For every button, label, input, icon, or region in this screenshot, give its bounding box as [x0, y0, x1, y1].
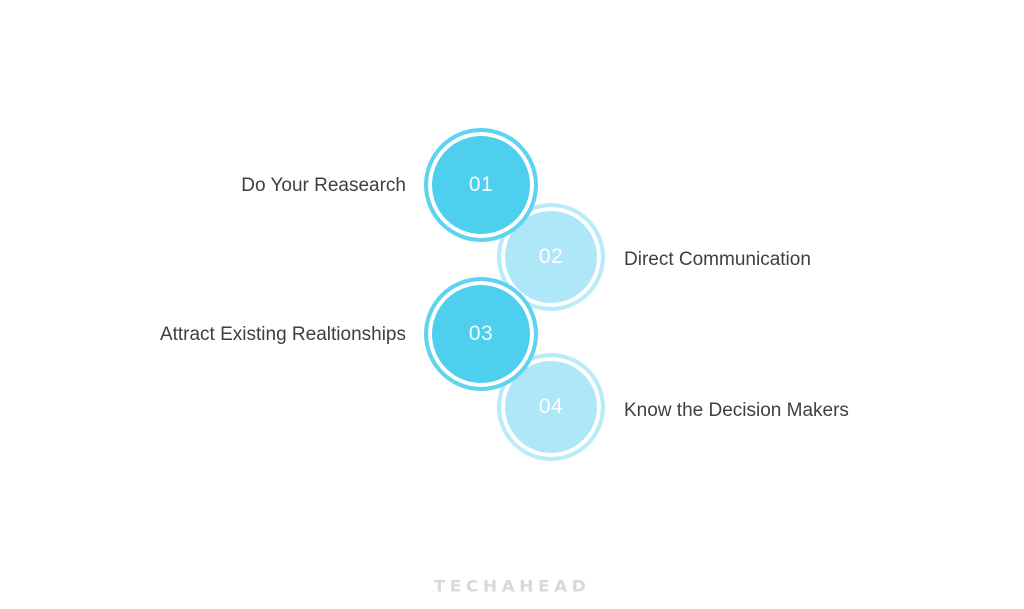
step-label-03: Attract Existing Realtionships [160, 324, 406, 346]
step-number-04: 04 [539, 395, 563, 419]
step-number-02: 02 [539, 245, 563, 269]
step-label-02: Direct Communication [624, 249, 811, 271]
brand-watermark: TECHAHEAD [0, 578, 1024, 596]
step-number-01: 01 [469, 173, 493, 197]
step-label-01: Do Your Reasearch [241, 175, 406, 197]
step-number-03: 03 [469, 322, 493, 346]
infographic-canvas: Do Your Reasearch 01 02 Direct Communica… [0, 0, 1024, 609]
step-label-04: Know the Decision Makers [624, 400, 849, 422]
step-circle-03[interactable]: 03 [424, 277, 538, 391]
step-circle-01[interactable]: 01 [424, 128, 538, 242]
